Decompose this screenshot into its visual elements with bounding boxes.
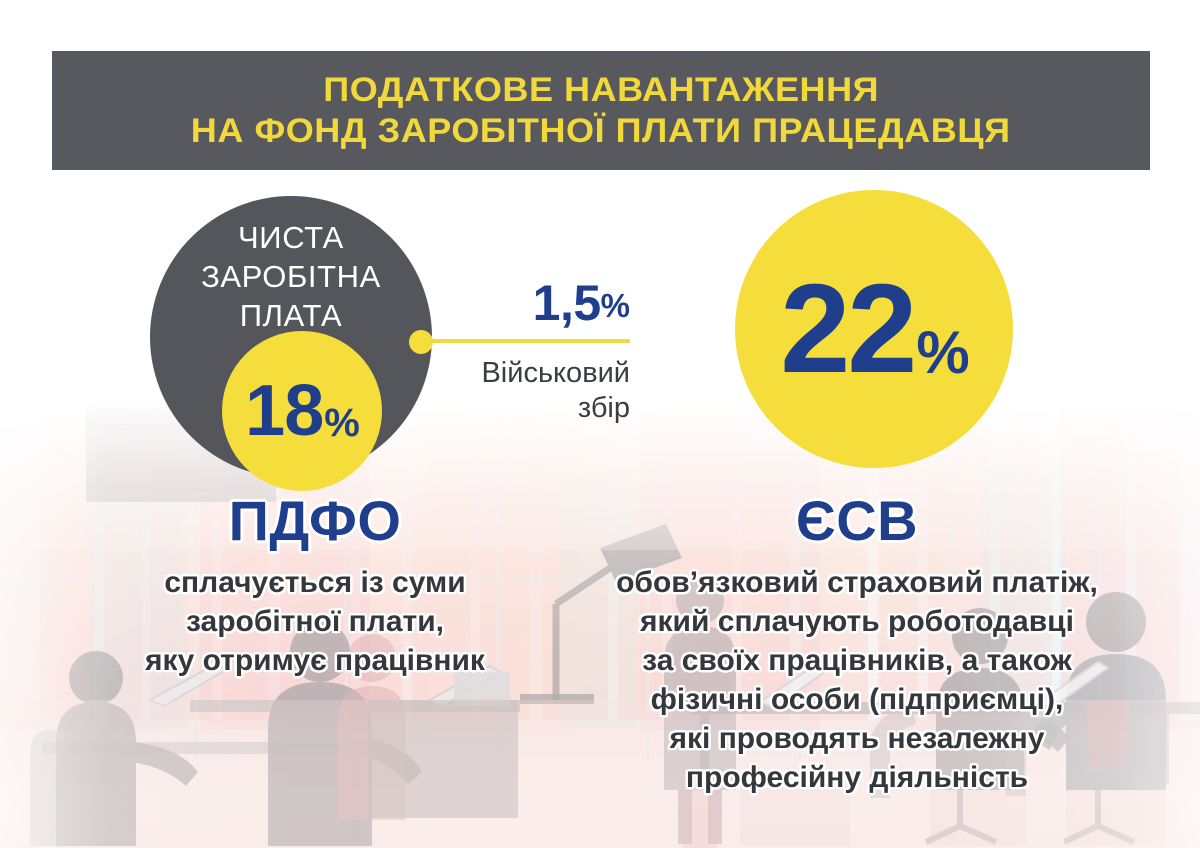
pdfo-percent-symbol: % <box>324 403 360 443</box>
esv-description-line-3: за своїх працівників, а також <box>572 641 1142 680</box>
pdfo-description-line-3: яку отримує працівник <box>60 641 570 680</box>
pdfo-text-block: ПДФО сплачується із суми заробітної плат… <box>60 492 570 680</box>
esv-percent-number: 22 <box>780 266 914 392</box>
military-levy-label: Військовий збір <box>370 356 630 426</box>
military-levy-value-group: 1,5% <box>380 278 630 328</box>
pdfo-description: сплачується із суми заробітної плати, як… <box>60 563 570 680</box>
military-levy-label-line-2: збір <box>370 391 630 426</box>
esv-title: ЄСВ <box>572 492 1142 551</box>
esv-description-line-6: професійну діяльність <box>572 758 1142 797</box>
pdfo-description-line-2: заробітної плати, <box>60 602 570 641</box>
esv-description-line-1: обов’язковий страховий платіж, <box>572 563 1142 602</box>
military-levy-label-line-1: Військовий <box>370 356 630 391</box>
pdfo-percent-number: 18 <box>245 375 323 447</box>
esv-description-line-2: який сплачують роботодавці <box>572 602 1142 641</box>
connector-line <box>430 339 630 343</box>
net-salary-label-line-1: ЧИСТА <box>150 218 432 257</box>
pdfo-title: ПДФО <box>60 492 570 551</box>
header-title-line-2: НА ФОНД ЗАРОБІТНОЇ ПЛАТИ ПРАЦЕДАВЦЯ <box>191 111 1011 151</box>
esv-description-line-5: які проводять незалежну <box>572 719 1142 758</box>
esv-description-line-4: фізичні особи (підприємці), <box>572 680 1142 719</box>
military-levy-percent-symbol: % <box>601 287 630 324</box>
header-bar: ПОДАТКОВЕ НАВАНТАЖЕННЯ НА ФОНД ЗАРОБІТНО… <box>52 51 1150 170</box>
military-levy-number: 1,5 <box>533 275 601 331</box>
header-title-line-1: ПОДАТКОВЕ НАВАНТАЖЕННЯ <box>323 70 879 110</box>
infographic-canvas: ПОДАТКОВЕ НАВАНТАЖЕННЯ НА ФОНД ЗАРОБІТНО… <box>0 0 1200 848</box>
esv-percent-symbol: % <box>916 323 969 383</box>
pdfo-description-line-1: сплачується із суми <box>60 563 570 602</box>
pdfo-percent-value-group: 18 % <box>222 331 382 491</box>
esv-description: обов’язковий страховий платіж, який спла… <box>572 563 1142 797</box>
esv-percent-value-group: 22 % <box>735 190 1013 468</box>
esv-text-block: ЄСВ обов’язковий страховий платіж, який … <box>572 492 1142 797</box>
